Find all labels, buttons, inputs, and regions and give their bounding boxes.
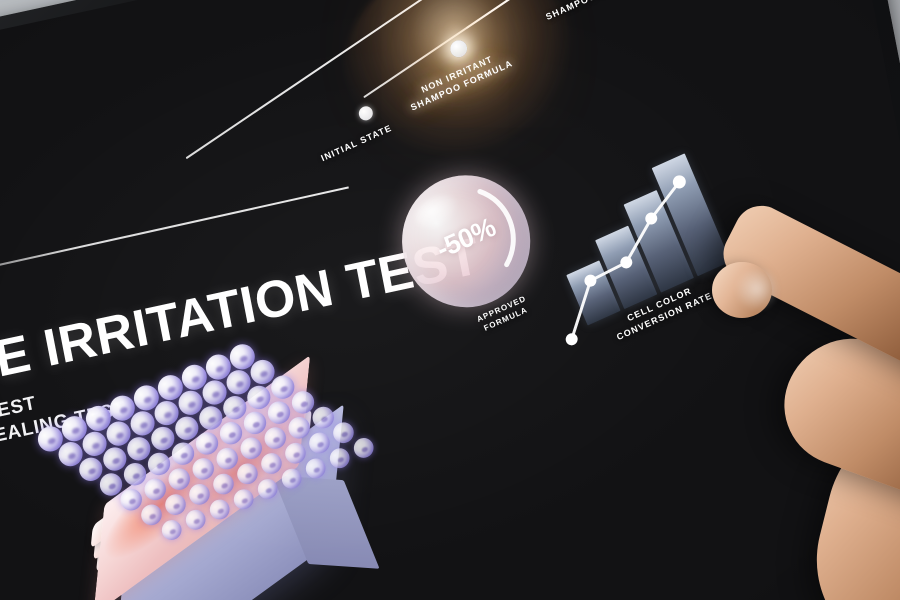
tablet-screen[interactable]: DERMOLOGY REAL EYE IRRITATION TEST UV TE… (0, 0, 900, 600)
model-cell (282, 440, 309, 467)
model-cell (351, 435, 377, 461)
model-cell (159, 517, 185, 543)
model-cell (306, 429, 333, 456)
timeline-node-initial[interactable] (358, 105, 374, 122)
chart-bars (521, 147, 742, 335)
timeline-label-irritant: IRRITANT SHAMPOO FORMULA (539, 0, 650, 23)
model-cell (234, 460, 261, 487)
model-cell (186, 481, 213, 508)
model-cell (330, 419, 357, 446)
model-cell (279, 466, 305, 492)
model-cell (255, 476, 281, 502)
model-cell (231, 486, 257, 512)
model-cell (138, 501, 165, 528)
timeline-label-initial: INITIAL STATE (319, 122, 394, 164)
model-cell (327, 445, 353, 471)
screenshot-stage: DERMOLOGY REAL EYE IRRITATION TEST UV TE… (0, 0, 900, 600)
model-cell (183, 507, 209, 533)
model-cell (210, 470, 237, 497)
model-cell (303, 455, 329, 481)
model-cell (207, 496, 233, 522)
model-cell (162, 491, 189, 518)
model-cell (258, 450, 285, 477)
timeline-segment-1 (186, 0, 438, 159)
tablet-device: DERMOLOGY REAL EYE IRRITATION TEST UV TE… (0, 0, 900, 600)
timeline-node-non-irritant[interactable] (449, 39, 469, 59)
